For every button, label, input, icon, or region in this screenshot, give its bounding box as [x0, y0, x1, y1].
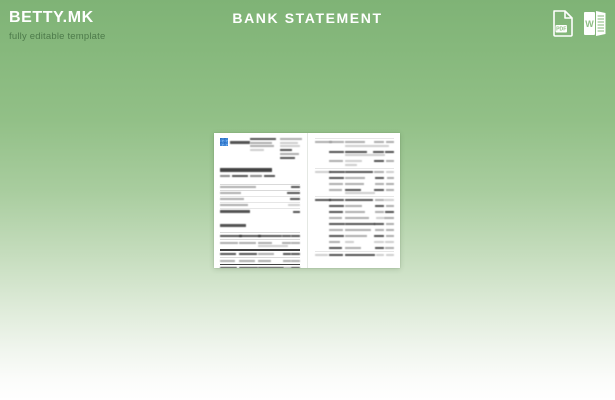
statement-meta-left [250, 138, 276, 159]
table-row [220, 240, 300, 250]
document-page-left [214, 133, 307, 268]
summary-row-total [220, 209, 300, 215]
table-row [315, 187, 394, 197]
file-format-icons: PDF W [552, 10, 605, 37]
statement-header [220, 138, 300, 159]
svg-text:W: W [585, 19, 594, 29]
page-root: BETTY.MK fully editable template BANK ST… [0, 0, 615, 400]
account-summary [220, 184, 300, 215]
table-row [315, 158, 394, 168]
bank-logo-mark [220, 138, 228, 146]
table-row [315, 149, 394, 159]
statement-meta-right [280, 138, 302, 159]
table-row [315, 139, 394, 149]
ledger-table [315, 139, 394, 258]
bank-logo-wordmark [230, 141, 250, 144]
table-row [220, 265, 300, 268]
bank-logo [220, 138, 250, 146]
statement-title [220, 168, 300, 172]
transactions-table [220, 232, 300, 269]
svg-text:PDF: PDF [556, 27, 566, 33]
transactions-heading [220, 224, 300, 227]
word-file-icon[interactable]: W [583, 10, 605, 37]
brand-tagline: fully editable template [9, 31, 249, 43]
table-row-last [315, 252, 394, 258]
page-title: BANK STATEMENT [0, 8, 615, 28]
bank-statement-template-preview[interactable] [214, 133, 400, 268]
statement-meta [250, 138, 302, 159]
document-page-right [307, 133, 400, 268]
pdf-file-icon[interactable]: PDF [552, 10, 574, 37]
statement-subtitle [220, 175, 300, 177]
